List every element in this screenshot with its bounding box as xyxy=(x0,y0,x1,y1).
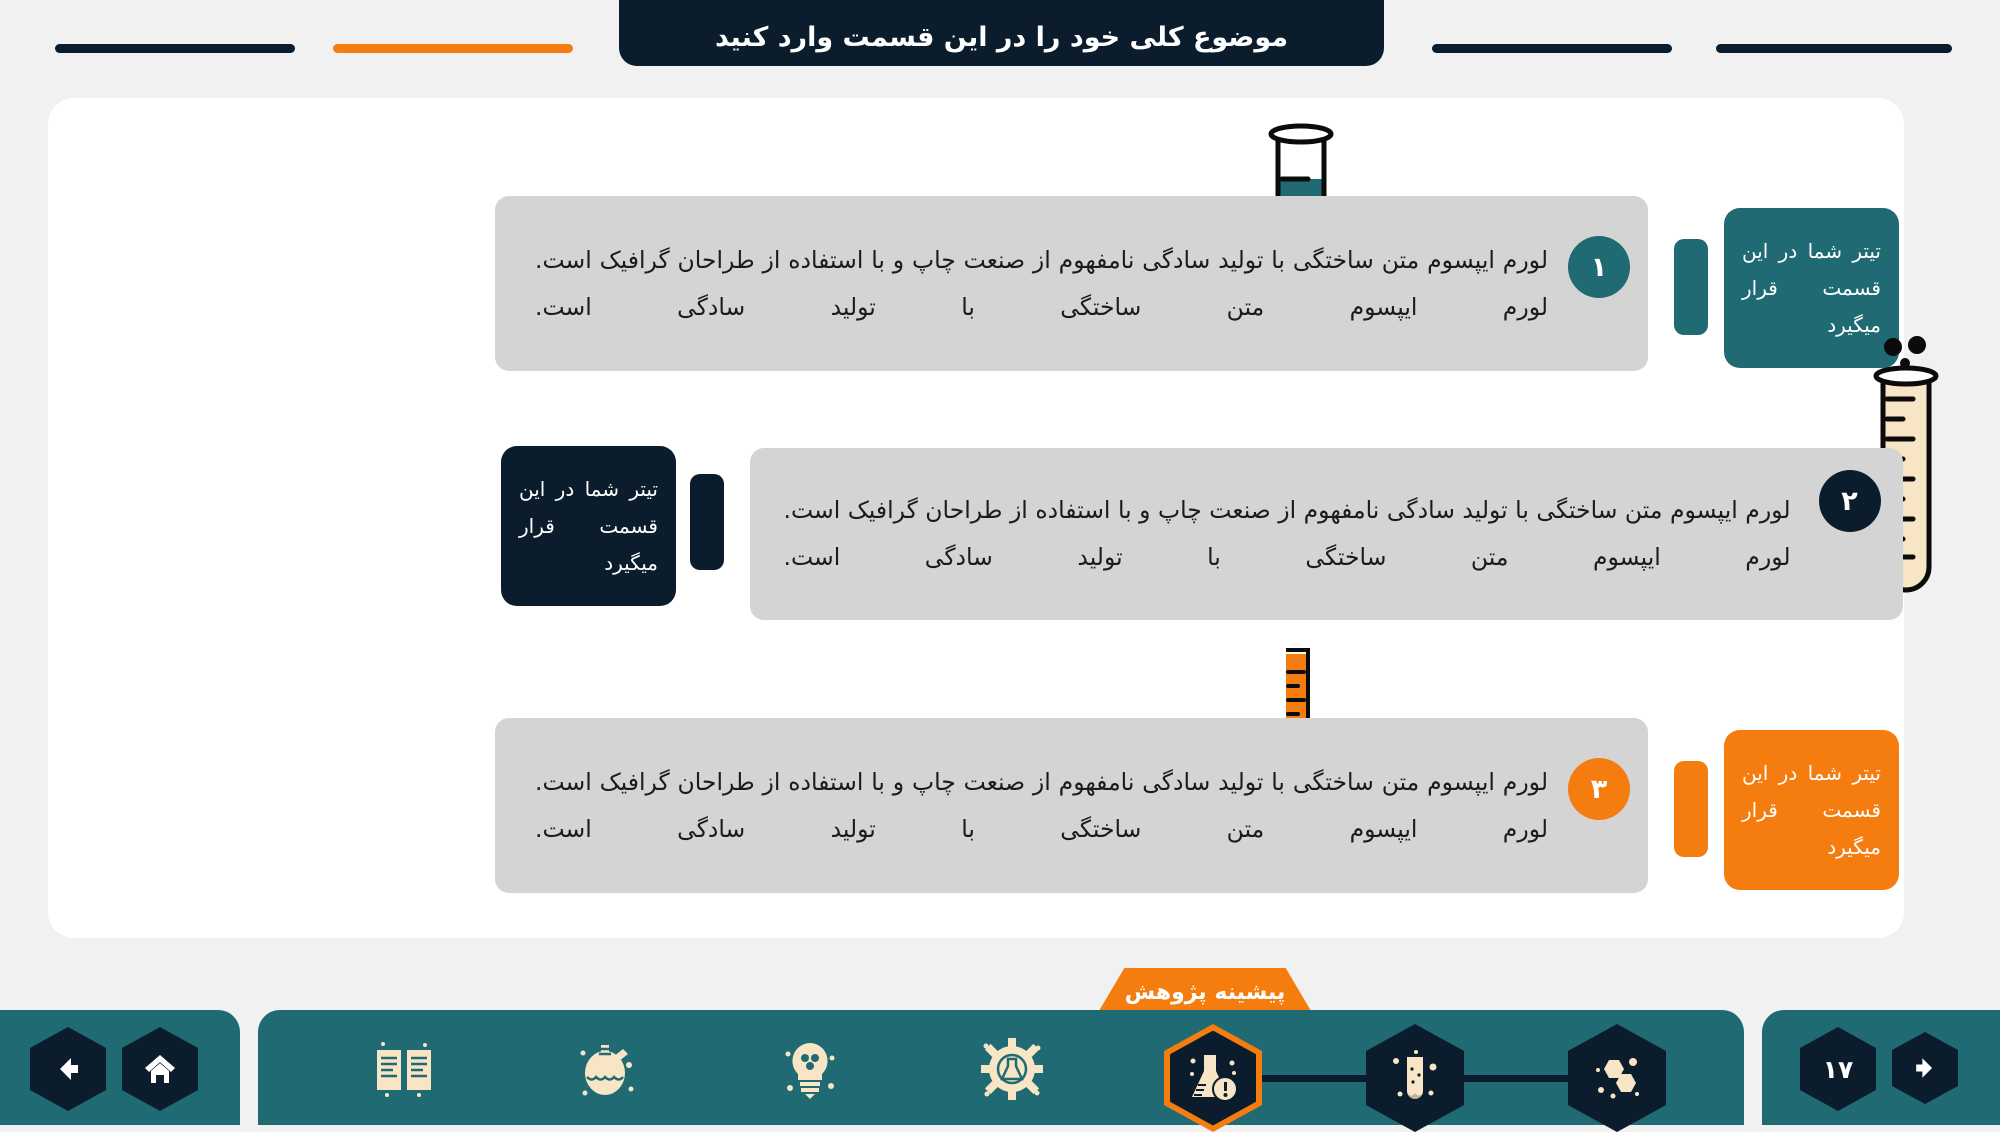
page-number-badge: ۱۷ xyxy=(1800,1027,1876,1111)
decor-rule-left-2 xyxy=(333,44,573,53)
nav-left-group xyxy=(0,1010,240,1125)
round-flask-glyph xyxy=(577,1039,639,1099)
forward-arrow-glyph xyxy=(1910,1053,1940,1083)
gear-flask-glyph xyxy=(981,1038,1043,1100)
decor-rule-right-1 xyxy=(1432,44,1672,53)
content-row-2: ۲ لورم ایپسوم متن ساختگی با تولید سادگی … xyxy=(48,436,1904,636)
erlenmeyer-flask-icon[interactable] xyxy=(1164,1024,1262,1132)
row-1-body-text: لورم ایپسوم متن ساختگی با تولید سادگی نا… xyxy=(535,237,1548,331)
page-number: ۱۷ xyxy=(1823,1055,1854,1084)
home-glyph xyxy=(140,1049,180,1089)
open-book-icon[interactable] xyxy=(358,1032,450,1106)
content-card: ۱ لورم ایپسوم متن ساختگی با تولید سادگی … xyxy=(48,98,1904,938)
slide-title: موضوع کلی خود را در این قسمت وارد کنید xyxy=(715,22,1288,53)
row-3-accent-bar xyxy=(1674,761,1708,857)
row-2-body-text: لورم ایپسوم متن ساختگی با تولید سادگی نا… xyxy=(784,487,1791,581)
row-1-number-badge: ۱ xyxy=(1568,236,1630,298)
section-tab-label: پیشینه پژوهش xyxy=(1125,980,1286,1005)
row-2-number-badge: ۲ xyxy=(1819,470,1881,532)
molecules-glyph xyxy=(1589,1050,1645,1106)
lightbulb-molecule-icon[interactable] xyxy=(764,1032,856,1106)
back-arrow-glyph xyxy=(51,1052,85,1086)
row-2-accent-bar xyxy=(690,474,724,570)
nav-center-group xyxy=(258,1010,1744,1125)
lightbulb-glyph xyxy=(781,1038,839,1100)
row-1-chip-label: تیتر شما در این قسمت قرار میگیرد xyxy=(1742,233,1881,344)
gear-flask-icon[interactable] xyxy=(966,1032,1058,1106)
top-bar: موضوع کلی خود را در این قسمت وارد کنید xyxy=(0,0,2000,78)
home-icon[interactable] xyxy=(122,1027,198,1111)
row-3-number-badge: ۳ xyxy=(1568,758,1630,820)
decor-rule-right-2 xyxy=(1716,44,1952,53)
row-3-body-text: لورم ایپسوم متن ساختگی با تولید سادگی نا… xyxy=(535,759,1548,853)
back-arrow-icon[interactable] xyxy=(30,1027,106,1111)
test-tube-icon[interactable] xyxy=(1366,1024,1464,1132)
row-3-chip-label: تیتر شما در این قسمت قرار میگیرد xyxy=(1742,755,1881,866)
row-3-title-chip[interactable]: تیتر شما در این قسمت قرار میگیرد xyxy=(1724,730,1899,890)
row-2-chip-label: تیتر شما در این قسمت قرار میگیرد xyxy=(519,471,658,582)
test-tube-glyph xyxy=(1388,1049,1442,1107)
nav-connector-2 xyxy=(1464,1075,1568,1082)
row-1-accent-bar xyxy=(1674,239,1708,335)
section-tab[interactable]: پیشینه پژوهش xyxy=(1096,968,1314,1016)
erlenmeyer-flask-inner xyxy=(1170,1031,1256,1126)
slide-title-plate: موضوع کلی خود را در این قسمت وارد کنید xyxy=(619,0,1384,66)
content-row-1: ۱ لورم ایپسوم متن ساختگی با تولید سادگی … xyxy=(48,186,1904,386)
nav-right-group: ۱۷ xyxy=(1762,1010,2000,1125)
open-book-glyph xyxy=(373,1040,435,1098)
row-1-text-panel: ۱ لورم ایپسوم متن ساختگی با تولید سادگی … xyxy=(495,196,1648,371)
molecules-icon[interactable] xyxy=(1568,1024,1666,1132)
round-flask-icon[interactable] xyxy=(562,1032,654,1106)
erlenmeyer-flask-glyph xyxy=(1184,1049,1242,1107)
decor-rule-left-1 xyxy=(55,44,295,53)
nav-connector-1 xyxy=(1262,1075,1366,1082)
row-2-title-chip[interactable]: تیتر شما در این قسمت قرار میگیرد xyxy=(501,446,676,606)
row-2-text-panel: ۲ لورم ایپسوم متن ساختگی با تولید سادگی … xyxy=(750,448,1903,620)
row-3-text-panel: ۳ لورم ایپسوم متن ساختگی با تولید سادگی … xyxy=(495,718,1648,893)
forward-arrow-icon[interactable] xyxy=(1892,1032,1958,1104)
content-row-3: ۳ لورم ایپسوم متن ساختگی با تولید سادگی … xyxy=(48,708,1904,908)
